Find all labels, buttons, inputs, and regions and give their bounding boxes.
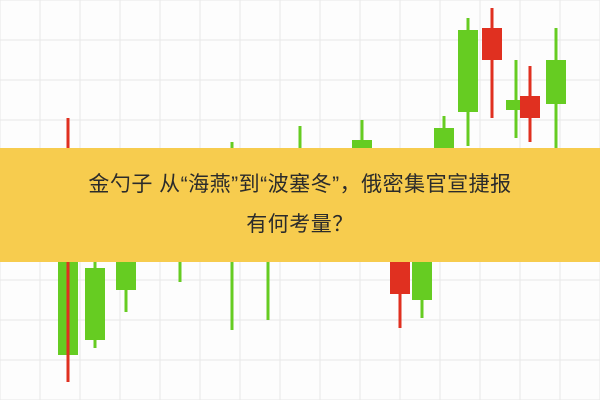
caption-line-1: 金勺子 从“海燕”到“波塞冬”，俄密集官宣捷报 (88, 165, 511, 205)
chart-screenshot: 金勺子 从“海燕”到“波塞冬”，俄密集官宣捷报 有何考量？ (0, 0, 600, 400)
caption-line-2: 有何考量？ (246, 205, 354, 245)
overlay-caption: 金勺子 从“海燕”到“波塞冬”，俄密集官宣捷报 有何考量？ (0, 148, 600, 262)
